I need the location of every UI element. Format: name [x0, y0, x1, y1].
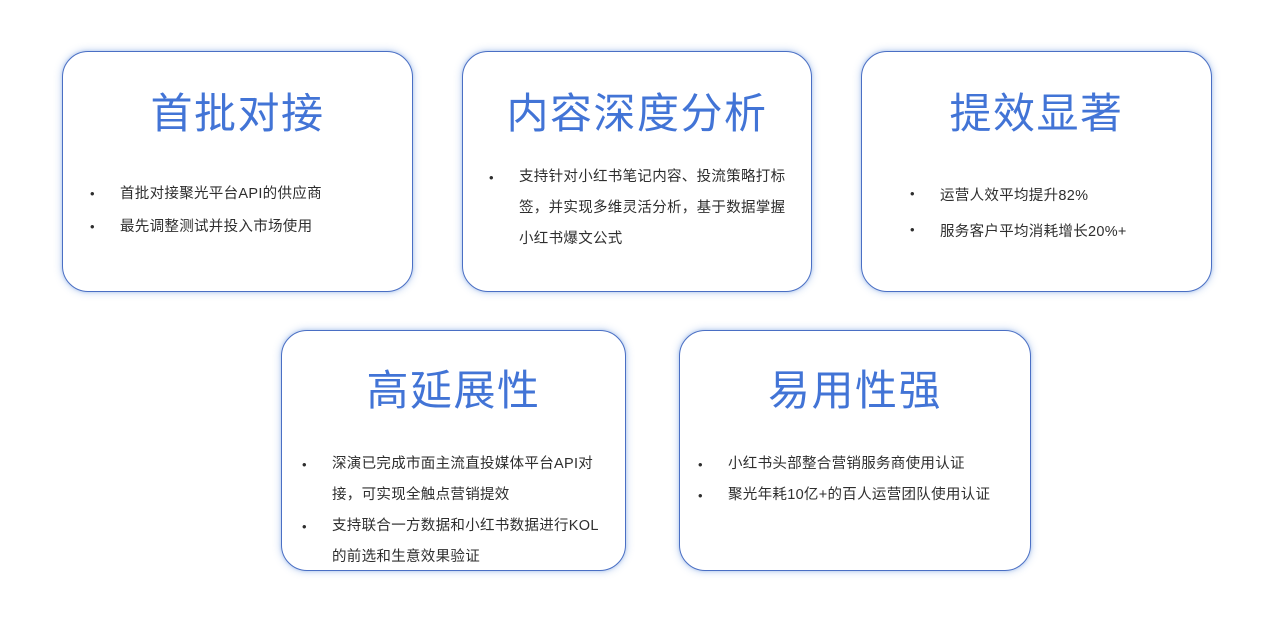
bullet-text: 聚光年耗10亿+的百人运营团队使用认证: [728, 480, 1018, 511]
card-bullet-list: • 首批对接聚光平台API的供应商 • 最先调整测试并投入市场使用: [63, 178, 412, 244]
bullet-dot-icon: •: [698, 480, 728, 511]
feature-card-usability[interactable]: 易用性强 • 小红书头部整合营销服务商使用认证 • 聚光年耗10亿+的百人运营团…: [679, 330, 1031, 571]
list-item: • 最先调整测试并投入市场使用: [90, 211, 396, 244]
bullet-text: 支持针对小红书笔记内容、投流策略打标签，并实现多维灵活分析，基于数据掌握小红书爆…: [519, 162, 797, 255]
bullet-dot-icon: •: [489, 162, 519, 193]
bullet-dot-icon: •: [910, 178, 940, 209]
feature-card-content-analysis[interactable]: 内容深度分析 • 支持针对小红书笔记内容、投流策略打标签，并实现多维灵活分析，基…: [462, 51, 812, 292]
bullet-text: 支持联合一方数据和小红书数据进行KOL的前选和生意效果验证: [332, 511, 613, 573]
bullet-dot-icon: •: [302, 511, 332, 542]
card-bullet-list: • 运营人效平均提升82% • 服务客户平均消耗增长20%+: [862, 178, 1211, 250]
card-bullet-list: • 支持针对小红书笔记内容、投流策略打标签，并实现多维灵活分析，基于数据掌握小红…: [463, 162, 811, 255]
card-bullet-list: • 深演已完成市面主流直投媒体平台API对接，可实现全触点营销提效 • 支持联合…: [282, 449, 625, 573]
card-title: 易用性强: [768, 368, 942, 413]
list-item: • 首批对接聚光平台API的供应商: [90, 178, 396, 211]
bullet-text: 深演已完成市面主流直投媒体平台API对接，可实现全触点营销提效: [332, 449, 613, 511]
card-title: 高延展性: [366, 368, 540, 413]
bullet-dot-icon: •: [698, 449, 728, 480]
card-bullet-list: • 小红书头部整合营销服务商使用认证 • 聚光年耗10亿+的百人运营团队使用认证: [680, 449, 1030, 511]
bullet-dot-icon: •: [90, 178, 120, 209]
list-item: • 支持针对小红书笔记内容、投流策略打标签，并实现多维灵活分析，基于数据掌握小红…: [489, 162, 797, 255]
card-title: 首批对接: [150, 91, 324, 136]
bullet-dot-icon: •: [302, 449, 332, 480]
feature-card-efficiency[interactable]: 提效显著 • 运营人效平均提升82% • 服务客户平均消耗增长20%+: [861, 51, 1212, 292]
feature-card-first-integration[interactable]: 首批对接 • 首批对接聚光平台API的供应商 • 最先调整测试并投入市场使用: [62, 51, 413, 292]
list-item: • 小红书头部整合营销服务商使用认证: [698, 449, 1018, 480]
list-item: • 服务客户平均消耗增长20%+: [910, 214, 1197, 250]
bullet-text: 服务客户平均消耗增长20%+: [940, 214, 1197, 250]
bullet-text: 小红书头部整合营销服务商使用认证: [728, 449, 1018, 480]
card-title: 内容深度分析: [506, 91, 767, 136]
list-item: • 支持联合一方数据和小红书数据进行KOL的前选和生意效果验证: [302, 511, 613, 573]
feature-card-extensibility[interactable]: 高延展性 • 深演已完成市面主流直投媒体平台API对接，可实现全触点营销提效 •…: [281, 330, 626, 571]
bullet-dot-icon: •: [90, 211, 120, 242]
list-item: • 聚光年耗10亿+的百人运营团队使用认证: [698, 480, 1018, 511]
list-item: • 深演已完成市面主流直投媒体平台API对接，可实现全触点营销提效: [302, 449, 613, 511]
slide-canvas: 首批对接 • 首批对接聚光平台API的供应商 • 最先调整测试并投入市场使用 内…: [0, 0, 1280, 625]
bullet-text: 运营人效平均提升82%: [940, 178, 1197, 214]
card-title: 提效显著: [949, 91, 1123, 136]
bullet-dot-icon: •: [910, 214, 940, 245]
bullet-text: 最先调整测试并投入市场使用: [120, 211, 396, 244]
bullet-text: 首批对接聚光平台API的供应商: [120, 178, 396, 211]
list-item: • 运营人效平均提升82%: [910, 178, 1197, 214]
